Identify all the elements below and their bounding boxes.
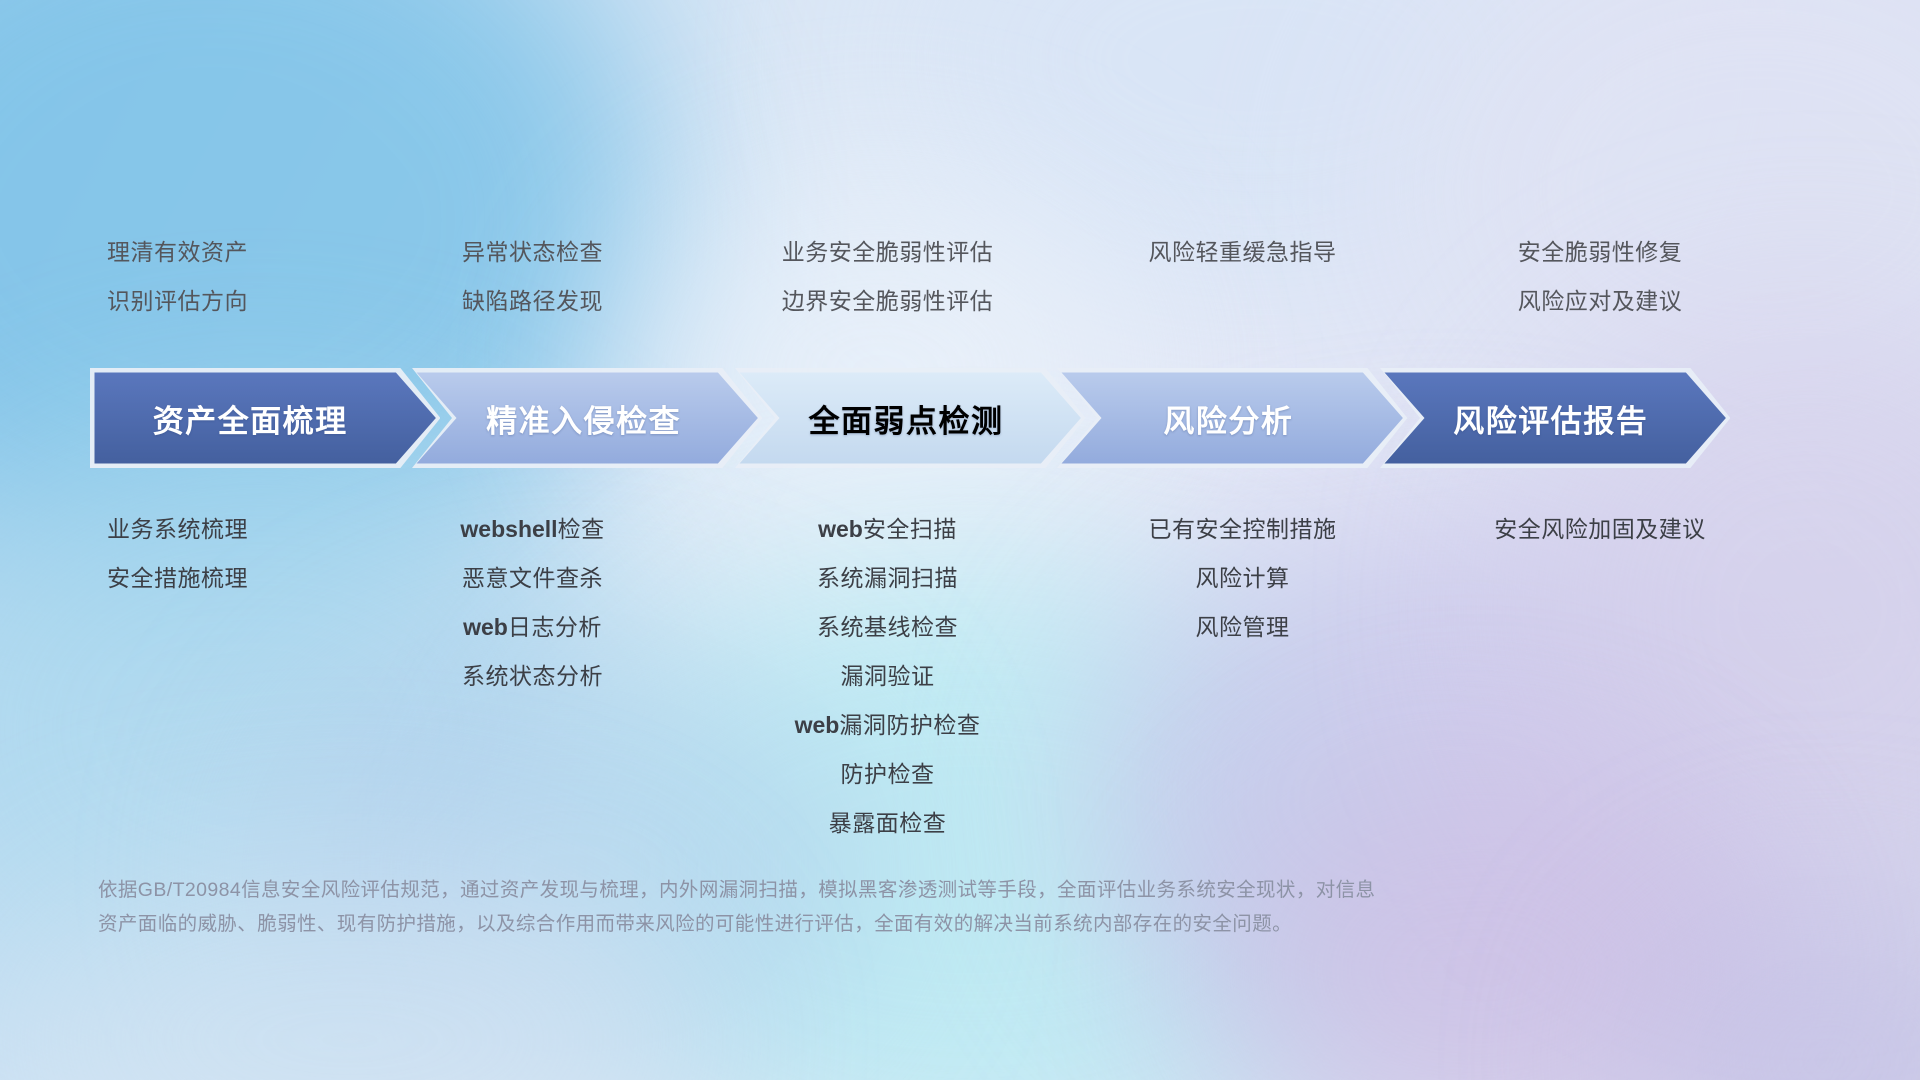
process-diagram: 理清有效资产识别评估方向异常状态检查缺陷路径发现业务安全脆弱性评估边界安全脆弱性… <box>0 0 1920 1080</box>
stage-inputs-2: 异常状态检查缺陷路径发现 <box>355 228 710 336</box>
chevron-stage-title: 风险评估报告 <box>1380 396 1730 441</box>
chevron-stage-title: 精准入侵检查 <box>412 396 762 441</box>
stage-inputs-5: 安全脆弱性修复风险应对及建议 <box>1420 228 1780 336</box>
stage-outputs-5: 安全风险加固及建议 <box>1420 505 1780 554</box>
chevron-stage-4[interactable]: 风险分析 <box>1057 368 1407 468</box>
footer-line-2: 资产面临的威胁、脆弱性、现有防护措施，以及综合作用而带来风险的可能性进行评估，全… <box>98 907 1618 941</box>
stage-output-label: web漏洞防护检查 <box>710 701 1065 750</box>
chevron-stage-title: 资产全面梳理 <box>90 396 440 441</box>
stage-input-label: 风险应对及建议 <box>1420 277 1780 326</box>
stage-output-label: 漏洞验证 <box>710 652 1065 701</box>
stage-inputs-4: 风险轻重缓急指导 <box>1065 228 1420 336</box>
chevron-stage-2[interactable]: 精准入侵检查 <box>412 368 762 468</box>
stage-outputs-2: webshell检查恶意文件查杀web日志分析系统状态分析 <box>355 505 710 701</box>
stage-output-label: 已有安全控制措施 <box>1065 505 1420 554</box>
stage-output-label: 系统基线检查 <box>710 603 1065 652</box>
stage-output-label: 恶意文件查杀 <box>355 554 710 603</box>
stage-input-label: 安全脆弱性修复 <box>1420 228 1780 277</box>
stage-output-label: 业务系统梳理 <box>0 505 355 554</box>
stage-output-label: 系统漏洞扫描 <box>710 554 1065 603</box>
chevron-stage-1[interactable]: 资产全面梳理 <box>90 368 440 468</box>
footer-line-1: 依据GB/T20984信息安全风险评估规范，通过资产发现与梳理，内外网漏洞扫描，… <box>98 873 1618 907</box>
stage-inputs-1: 理清有效资产识别评估方向 <box>0 228 355 336</box>
chevron-stage-5[interactable]: 风险评估报告 <box>1380 368 1730 468</box>
stage-output-label: 风险管理 <box>1065 603 1420 652</box>
stage-outputs-1: 业务系统梳理安全措施梳理 <box>0 505 355 603</box>
stage-input-label: 异常状态检查 <box>355 228 710 277</box>
chevron-stage-title: 风险分析 <box>1057 396 1407 441</box>
chevron-stage-title: 全面弱点检测 <box>735 396 1085 441</box>
stage-input-label: 风险轻重缓急指导 <box>1065 228 1420 277</box>
stage-output-label: 防护检查 <box>710 750 1065 799</box>
footer-description: 依据GB/T20984信息安全风险评估规范，通过资产发现与梳理，内外网漏洞扫描，… <box>98 873 1618 941</box>
stage-input-label: 缺陷路径发现 <box>355 277 710 326</box>
stage-output-label: 系统状态分析 <box>355 652 710 701</box>
stage-outputs-row: 业务系统梳理安全措施梳理webshell检查恶意文件查杀web日志分析系统状态分… <box>0 505 1920 848</box>
stage-output-label: 风险计算 <box>1065 554 1420 603</box>
stage-outputs-4: 已有安全控制措施风险计算风险管理 <box>1065 505 1420 652</box>
stage-input-label: 边界安全脆弱性评估 <box>710 277 1065 326</box>
stage-output-label: web日志分析 <box>355 603 710 652</box>
chevron-stage-3[interactable]: 全面弱点检测 <box>735 368 1085 468</box>
stage-input-label: 业务安全脆弱性评估 <box>710 228 1065 277</box>
stage-output-label: 安全风险加固及建议 <box>1420 505 1780 554</box>
stage-output-label: 安全措施梳理 <box>0 554 355 603</box>
stage-input-label: 识别评估方向 <box>0 277 355 326</box>
stage-inputs-3: 业务安全脆弱性评估边界安全脆弱性评估 <box>710 228 1065 336</box>
stage-inputs-row: 理清有效资产识别评估方向异常状态检查缺陷路径发现业务安全脆弱性评估边界安全脆弱性… <box>0 228 1920 336</box>
stage-input-label: 理清有效资产 <box>0 228 355 277</box>
stage-output-label: webshell检查 <box>355 505 710 554</box>
stage-output-label: web安全扫描 <box>710 505 1065 554</box>
stage-output-label: 暴露面检查 <box>710 799 1065 848</box>
stage-outputs-3: web安全扫描系统漏洞扫描系统基线检查漏洞验证web漏洞防护检查防护检查暴露面检… <box>710 505 1065 848</box>
chevron-band: 资产全面梳理精准入侵检查全面弱点检测风险分析风险评估报告 <box>90 368 1850 468</box>
